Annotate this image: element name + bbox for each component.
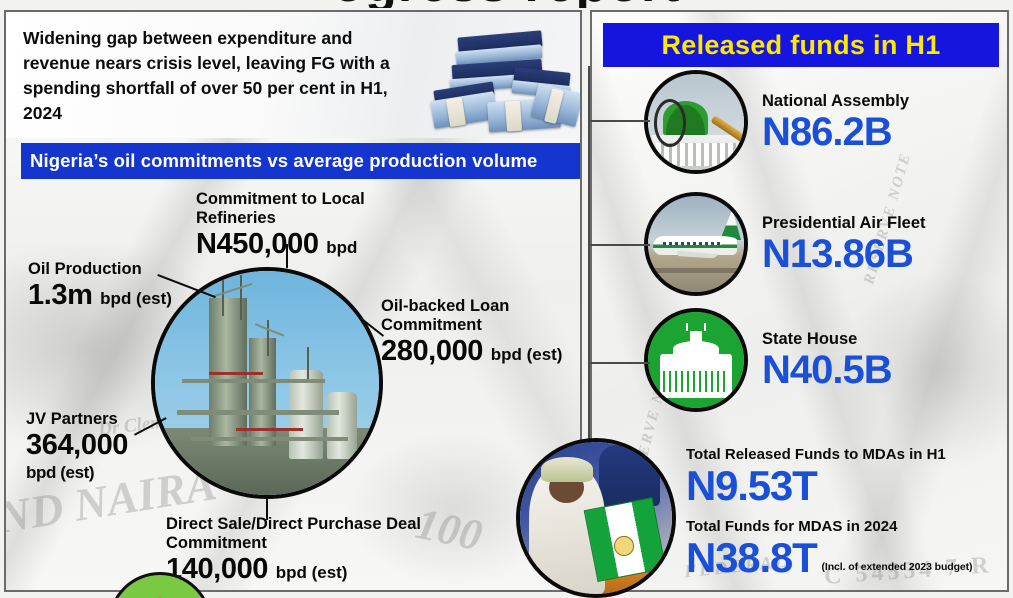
hero-block: Widening gap between expenditure and rev…: [6, 12, 580, 138]
callout-local-refineries: Commitment to Local Refineries N450,000 …: [196, 190, 446, 264]
total-funds-2024-value: N38.8T: [686, 536, 817, 580]
fund-row-national-assembly: National Assembly N86.2B: [644, 70, 909, 174]
value-number: 280,000: [381, 335, 483, 367]
national-assembly-artwork: [648, 74, 744, 170]
total-funds-2024: Total Funds for MDAS in 2024 N38.8T (Inc…: [686, 518, 1011, 580]
callout-oil-production-value: 1.3m bpd (est): [28, 279, 258, 315]
callout-jv-partners-value: 364,000: [26, 429, 196, 462]
presidential-air-fleet-label: Presidential Air Fleet: [762, 214, 926, 233]
connector-branch-state-house: [588, 362, 650, 364]
state-house-value: N40.5B: [762, 349, 892, 391]
budget-presentation-photo: [516, 438, 676, 598]
total-funds-2024-note: (Incl. of extended 2023 budget): [822, 561, 973, 573]
callout-dsdp: Direct Sale/Direct Purchase Deal Commitm…: [166, 515, 446, 589]
callout-jv-partners-unit: bpd (est): [26, 462, 196, 484]
connector-branch-presidential-air-fleet: [588, 244, 650, 246]
state-house-label: State House: [762, 330, 892, 349]
callout-oil-production-caption: Oil Production: [28, 260, 258, 279]
callout-local-refineries-value: N450,000 bpd: [196, 228, 446, 264]
lede-text: Widening gap between expenditure and rev…: [23, 26, 403, 126]
cropped-headline: ogress report: [0, 0, 1013, 8]
state-house-icon: [644, 308, 748, 412]
infographic-root: ogress report ND NAIRA Dr Clement 100 Wi…: [0, 0, 1013, 598]
total-released-h1-value: N9.53T: [686, 464, 1011, 508]
naira-bundles-photo: [430, 26, 582, 138]
presidential-jet-photo: [644, 192, 748, 296]
released-funds-banner: Released funds in H1: [603, 23, 999, 67]
left-panel: ND NAIRA Dr Clement 100 Widening gap bet…: [4, 10, 582, 592]
presidential-jet-artwork: [648, 196, 744, 292]
callout-jv-partners: JV Partners 364,000 bpd (est): [26, 410, 196, 484]
national-assembly-photo: [644, 70, 748, 174]
value-unit: bpd (est): [100, 289, 172, 308]
state-house-text: State House N40.5B: [762, 330, 892, 391]
connector-branch-national-assembly: [588, 120, 650, 122]
oil-commitments-banner: Nigeria’s oil commitments vs average pro…: [21, 143, 582, 179]
national-assembly-value: N86.2B: [762, 111, 909, 153]
totals-block: Total Released Funds to MDAs in H1 N9.53…: [686, 446, 1011, 580]
value-unit: bpd: [326, 238, 357, 257]
value-number: N450,000: [196, 228, 319, 260]
value-number: 364,000: [26, 429, 128, 461]
value-unit: bpd (est): [276, 563, 348, 582]
fund-row-state-house: State House N40.5B: [644, 308, 892, 412]
callout-jv-partners-caption: JV Partners: [26, 410, 196, 429]
fund-row-presidential-air-fleet: Presidential Air Fleet N13.86B: [644, 192, 926, 296]
national-assembly-label: National Assembly: [762, 92, 909, 111]
callout-oil-backed-loan-caption: Oil-backed Loan Commitment: [381, 297, 582, 335]
callout-oil-backed-loan: Oil-backed Loan Commitment 280,000 bpd (…: [381, 297, 582, 371]
presidential-air-fleet-text: Presidential Air Fleet N13.86B: [762, 214, 926, 275]
callout-dsdp-caption: Direct Sale/Direct Purchase Deal Commitm…: [166, 515, 446, 553]
callout-local-refineries-caption: Commitment to Local Refineries: [196, 190, 446, 228]
total-funds-2024-row: N38.8T (Incl. of extended 2023 budget): [686, 536, 1011, 580]
national-assembly-text: National Assembly N86.2B: [762, 92, 909, 153]
callout-oil-backed-loan-value: 280,000 bpd (est): [381, 335, 582, 371]
callout-dsdp-value: 140,000 bpd (est): [166, 553, 446, 589]
oil-commitments-banner-text: Nigeria’s oil commitments vs average pro…: [30, 150, 537, 172]
budget-presentation-artwork: [520, 442, 672, 594]
state-house-artwork: [648, 312, 744, 408]
released-funds-banner-text: Released funds in H1: [661, 30, 940, 61]
presidential-air-fleet-value: N13.86B: [762, 233, 926, 275]
cropped-headline-text: ogress report: [0, 0, 1013, 8]
value-number: 1.3m: [28, 279, 93, 311]
callout-oil-production: Oil Production 1.3m bpd (est): [28, 260, 258, 315]
total-released-h1: Total Released Funds to MDAs in H1 N9.53…: [686, 446, 1011, 508]
value-unit: bpd (est): [491, 345, 563, 364]
